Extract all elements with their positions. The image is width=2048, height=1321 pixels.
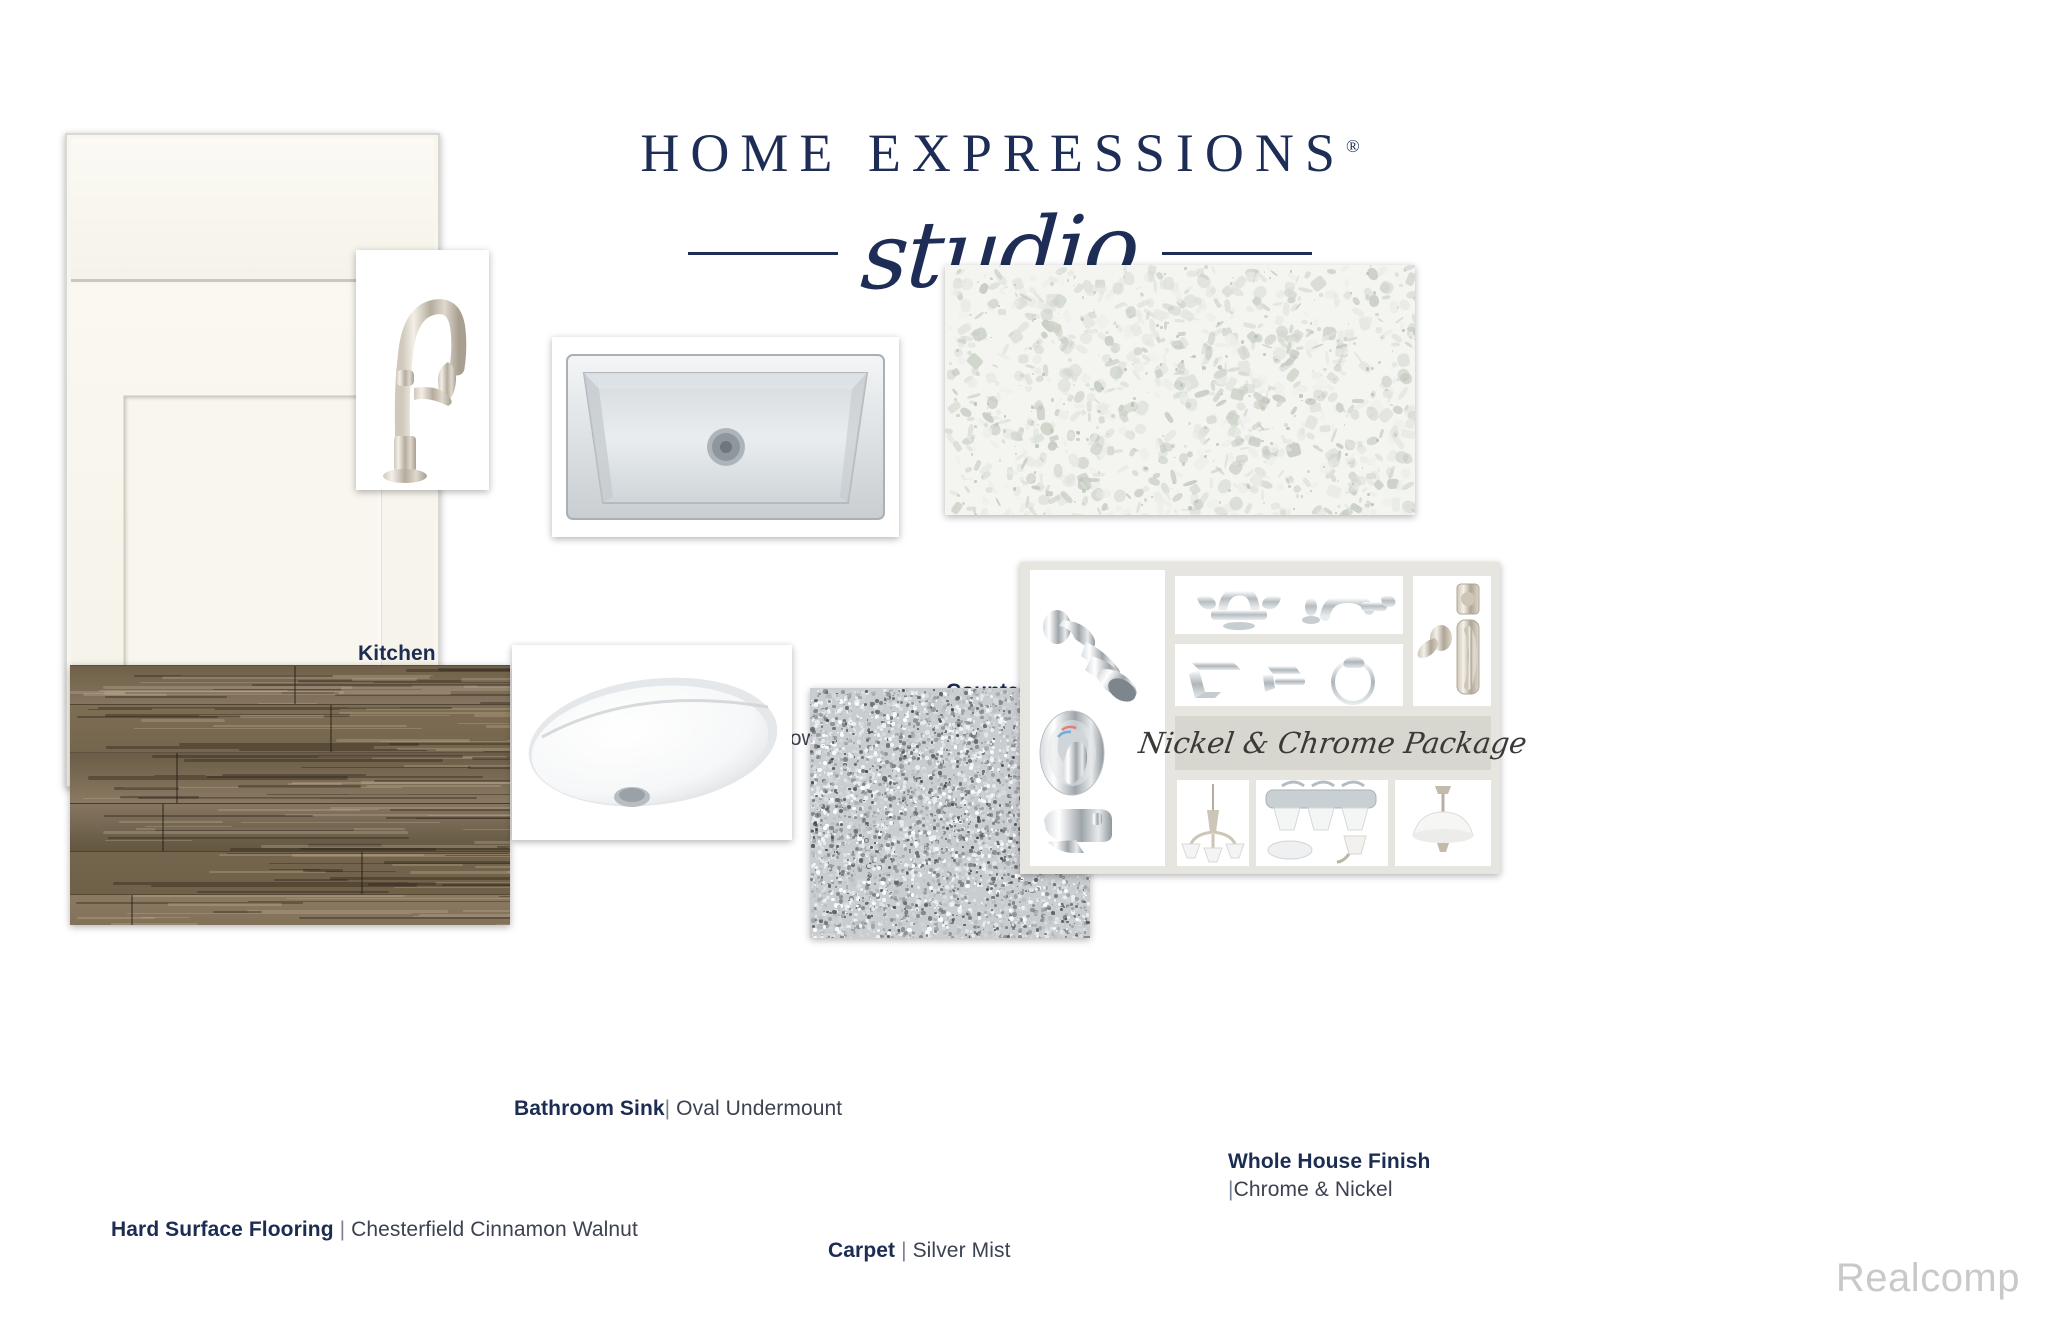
logo-rule-right bbox=[1162, 252, 1312, 255]
nickel-chrome-package-band: Nickel & Chrome Package bbox=[1175, 716, 1491, 770]
vanity-light-panel bbox=[1256, 780, 1388, 866]
flush-disc-light-icon bbox=[1268, 841, 1312, 859]
kitchen-faucet-photo bbox=[356, 250, 489, 490]
caption-carpet-value: Silver Mist bbox=[913, 1239, 1011, 1262]
towel-ring-icon bbox=[1333, 656, 1373, 703]
brand-wordmark-text: HOME EXPRESSIONS bbox=[640, 123, 1346, 183]
selection-board: HOME EXPRESSIONS® studio Cabinets | Corb… bbox=[0, 0, 2048, 1321]
roman-tub-faucet-icon bbox=[1302, 595, 1395, 624]
chandelier-icon bbox=[1177, 780, 1249, 866]
toilet-paper-holder-icon bbox=[1263, 666, 1305, 692]
shower-valve-trim-icon bbox=[1040, 711, 1104, 795]
nickel-chrome-package-text: Nickel & Chrome Package bbox=[1137, 726, 1529, 760]
caption-flooring: Hard Surface Flooring | Chesterfield Cin… bbox=[111, 1216, 638, 1244]
caption-bathroom-sink-value: Oval Undermount bbox=[676, 1097, 842, 1120]
caption-carpet-label: Carpet bbox=[828, 1239, 895, 1262]
registered-trademark-icon: ® bbox=[1346, 136, 1360, 156]
quartz-slab-sample bbox=[945, 265, 1415, 515]
entry-handleset-icon bbox=[1457, 620, 1479, 694]
wood-texture bbox=[70, 665, 510, 925]
bath-accessories-panel bbox=[1175, 644, 1403, 706]
caption-carpet-separator: | bbox=[901, 1239, 907, 1262]
bathroom-sink-photo bbox=[512, 645, 792, 840]
caption-bathroom-sink: Bathroom Sink| Oval Undermount bbox=[514, 1095, 842, 1123]
lavatory-faucets-panel bbox=[1175, 576, 1403, 634]
shower-head-icon bbox=[1043, 610, 1141, 706]
wall-sconce-icon bbox=[1337, 836, 1366, 862]
tub-spout-icon bbox=[1044, 809, 1112, 853]
caption-whole-house-finish-label: Whole House Finish bbox=[1228, 1150, 1430, 1173]
fixture-collage: Nickel & Chrome Package bbox=[1020, 562, 1500, 874]
shower-trim-panel bbox=[1030, 570, 1165, 866]
kitchen-sink-icon bbox=[552, 337, 899, 537]
logo-rule-left bbox=[688, 252, 838, 255]
centerset-faucet-icon bbox=[1197, 591, 1281, 630]
kitchen-faucet-icon bbox=[356, 250, 489, 490]
caption-flooring-value: Chesterfield Cinnamon Walnut bbox=[351, 1218, 638, 1241]
caption-whole-house-finish: Whole House Finish |Chrome & Nickel bbox=[1228, 1148, 1468, 1205]
door-hardware-panel bbox=[1413, 576, 1491, 706]
flush-mount-panel bbox=[1395, 780, 1491, 866]
vanity-bar-light-icon bbox=[1266, 782, 1376, 830]
chandelier-panel bbox=[1177, 780, 1249, 866]
caption-bathroom-sink-label: Bathroom Sink bbox=[514, 1097, 665, 1120]
caption-flooring-separator: | bbox=[340, 1218, 346, 1241]
kitchen-sink-photo bbox=[552, 337, 899, 537]
caption-carpet: Carpet | Silver Mist bbox=[828, 1237, 1011, 1265]
towel-bar-icon bbox=[1189, 662, 1241, 698]
deadbolt-icon bbox=[1457, 584, 1479, 614]
caption-flooring-label: Hard Surface Flooring bbox=[111, 1218, 334, 1241]
quartz-texture bbox=[945, 265, 1415, 515]
lever-handle-icon bbox=[1418, 625, 1452, 658]
caption-whole-house-finish-value: Chrome & Nickel bbox=[1234, 1178, 1393, 1201]
wood-plank-sample bbox=[70, 665, 510, 925]
realcomp-watermark: Realcomp bbox=[1836, 1256, 2020, 1301]
caption-bathroom-sink-separator: | bbox=[665, 1097, 671, 1120]
brand-wordmark: HOME EXPRESSIONS® bbox=[640, 126, 1359, 180]
semi-flush-mount-icon bbox=[1395, 780, 1491, 866]
bathroom-sink-icon bbox=[512, 645, 792, 840]
